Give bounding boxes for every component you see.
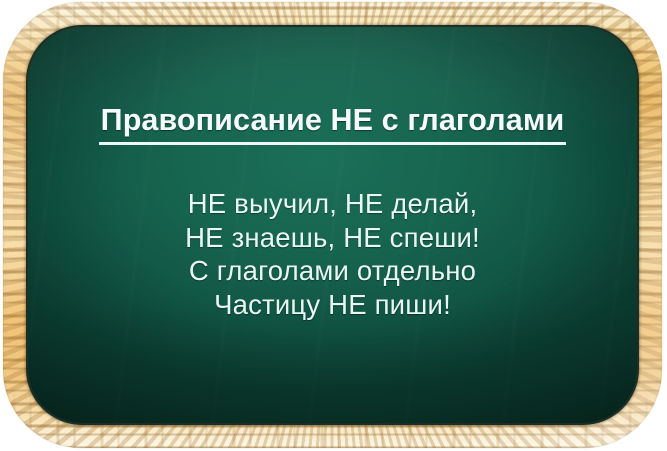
- verse-line-4: Частицу НЕ пиши!: [28, 288, 637, 322]
- image-canvas: Правописание НЕ с глаголами НЕ выучил, Н…: [0, 0, 667, 451]
- page-title: Правописание НЕ с глаголами: [28, 103, 637, 145]
- chalkboard: Правописание НЕ с глаголами НЕ выучил, Н…: [28, 27, 637, 423]
- verse-line-2: НЕ знаешь, НЕ спеши!: [28, 221, 637, 255]
- verse-line-1: НЕ выучил, НЕ делай,: [28, 187, 637, 221]
- verse-block: НЕ выучил, НЕ делай, НЕ знаешь, НЕ спеши…: [28, 187, 637, 321]
- board-content: Правописание НЕ с глаголами НЕ выучил, Н…: [28, 27, 637, 423]
- verse-line-3: С глаголами отдельно: [28, 254, 637, 288]
- page-title-text: Правописание НЕ с глаголами: [99, 103, 567, 145]
